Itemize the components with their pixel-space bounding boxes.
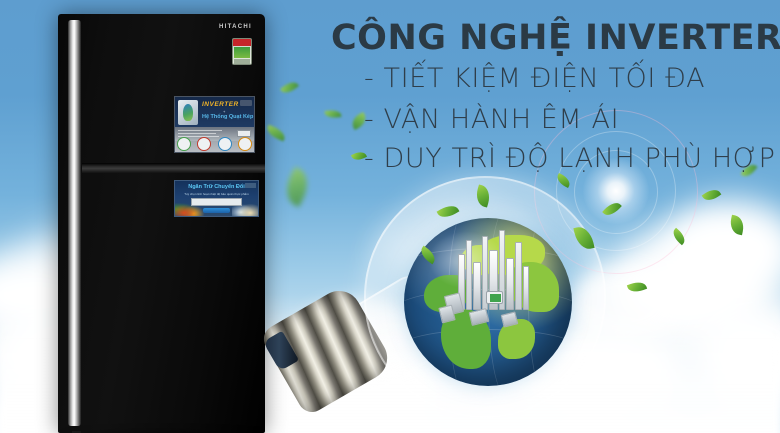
- refrigerator: HITACHI INVERTER + Hệ Thống Quạt Kép: [58, 14, 265, 433]
- sticker-subtitle: Hệ Thống Quạt Kép: [202, 114, 253, 120]
- energy-label-bar: [234, 47, 250, 58]
- building: [466, 240, 472, 310]
- hitachi-brand-logo: HITACHI: [219, 24, 252, 30]
- sticker-badge-row: [177, 139, 252, 151]
- inverter-feature-sticker: INVERTER + Hệ Thống Quạt Kép: [174, 96, 255, 153]
- temperature-selector-bar: [191, 198, 242, 206]
- dual-fan-icon: [178, 100, 198, 125]
- sticker-corner-mark: [240, 100, 252, 106]
- sticker-badge: [238, 137, 252, 151]
- building: [523, 266, 529, 310]
- screen-chip-icon: [486, 291, 503, 304]
- page-title: CÔNG NGHỆ INVERTER: [331, 18, 780, 58]
- city-skyline: [440, 226, 544, 310]
- sticker-header: INVERTER + Hệ Thống Quạt Kép: [175, 97, 254, 127]
- fridge-door-divider: [82, 163, 265, 173]
- sticker-badge: [197, 137, 211, 151]
- building: [506, 258, 514, 310]
- convertible-compartment-sticker: Ngăn Trữ Chuyển Đổi Tuỳ chọn linh hoạt n…: [174, 180, 259, 217]
- sticker-badge: [218, 137, 232, 151]
- energy-label-top: [233, 39, 251, 46]
- leaf-icon: [325, 109, 342, 119]
- leaf-icon: [265, 125, 287, 142]
- fridge-door-handle[interactable]: [68, 20, 81, 426]
- feature-bullet-3: - DUY TRÌ ĐỘ LẠNH PHÙ HỢP: [364, 143, 775, 174]
- sticker-inverter-title: INVERTER: [202, 101, 239, 108]
- lower-sticker-title: Ngăn Trữ Chuyển Đổi: [175, 184, 258, 190]
- inverter-promo-banner: HITACHI INVERTER + Hệ Thống Quạt Kép: [0, 0, 780, 433]
- sticker-text-line: [178, 133, 216, 134]
- fridge-shadow: [58, 428, 273, 433]
- energy-rating-label: [232, 38, 252, 65]
- lower-sticker-button: [203, 208, 230, 213]
- leaf-icon: [280, 79, 299, 97]
- sticker-text-line: [178, 130, 222, 131]
- energy-label-bottom: [234, 59, 250, 64]
- building: [515, 242, 522, 310]
- sticker-badge: [177, 137, 191, 151]
- lower-sticker-subtitle: Tuỳ chọn linh hoạt nhiệt độ bảo quản thự…: [175, 192, 258, 196]
- feature-bullet-2: - VẬN HÀNH ÊM ÁI: [364, 104, 619, 135]
- feature-bullet-1: - TIẾT KIỆM ĐIỆN TỐI ĐA: [364, 63, 705, 94]
- sticker-chip-icon: [237, 130, 251, 137]
- building: [473, 262, 481, 310]
